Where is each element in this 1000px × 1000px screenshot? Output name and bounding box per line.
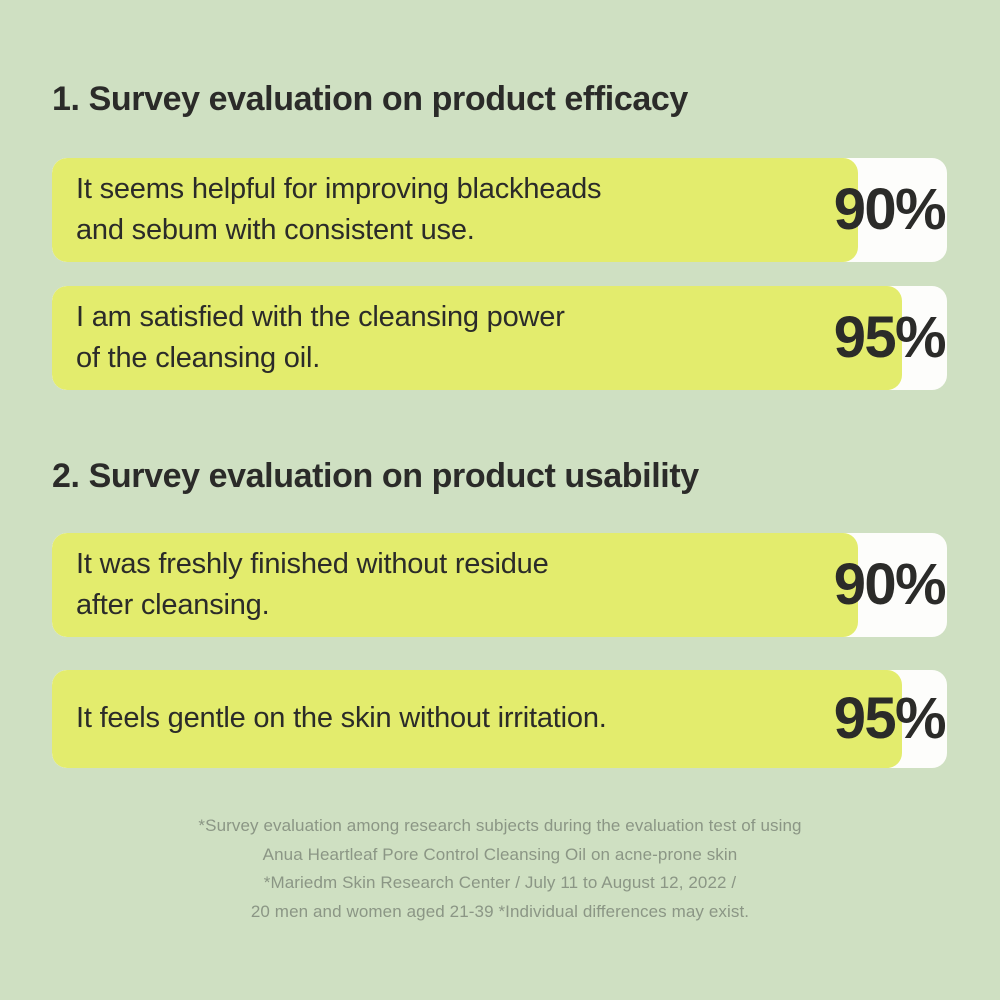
survey-bar-efficacy-1: It seems helpful for improving blackhead…	[52, 158, 947, 262]
bar-value: 90%	[834, 556, 947, 614]
footnote-line-3: *Mariedm Skin Research Center / July 11 …	[0, 869, 1000, 898]
bar-content: I am satisfied with the cleansing power …	[52, 286, 947, 390]
bar-label: It feels gentle on the skin without irri…	[52, 698, 607, 739]
footnote-line-4: 20 men and women aged 21-39 *Individual …	[0, 898, 1000, 927]
bar-label: It was freshly finished without residue …	[52, 544, 549, 626]
footnote: *Survey evaluation among research subjec…	[0, 812, 1000, 926]
section-heading-usability: 2. Survey evaluation on product usabilit…	[52, 459, 699, 493]
footnote-line-2: Anua Heartleaf Pore Control Cleansing Oi…	[0, 841, 1000, 870]
section-heading-efficacy: 1. Survey evaluation on product efficacy	[52, 82, 688, 116]
footnote-line-1: *Survey evaluation among research subjec…	[0, 812, 1000, 841]
bar-value: 95%	[834, 690, 947, 748]
bar-label: It seems helpful for improving blackhead…	[52, 169, 601, 251]
bar-content: It feels gentle on the skin without irri…	[52, 670, 947, 768]
bar-content: It was freshly finished without residue …	[52, 533, 947, 637]
survey-bar-efficacy-2: I am satisfied with the cleansing power …	[52, 286, 947, 390]
survey-bar-usability-1: It was freshly finished without residue …	[52, 533, 947, 637]
survey-results-infographic: 1. Survey evaluation on product efficacy…	[0, 0, 1000, 1000]
survey-bar-usability-2: It feels gentle on the skin without irri…	[52, 670, 947, 768]
bar-content: It seems helpful for improving blackhead…	[52, 158, 947, 262]
bar-value: 95%	[834, 309, 947, 367]
bar-value: 90%	[834, 181, 947, 239]
bar-label: I am satisfied with the cleansing power …	[52, 297, 565, 379]
